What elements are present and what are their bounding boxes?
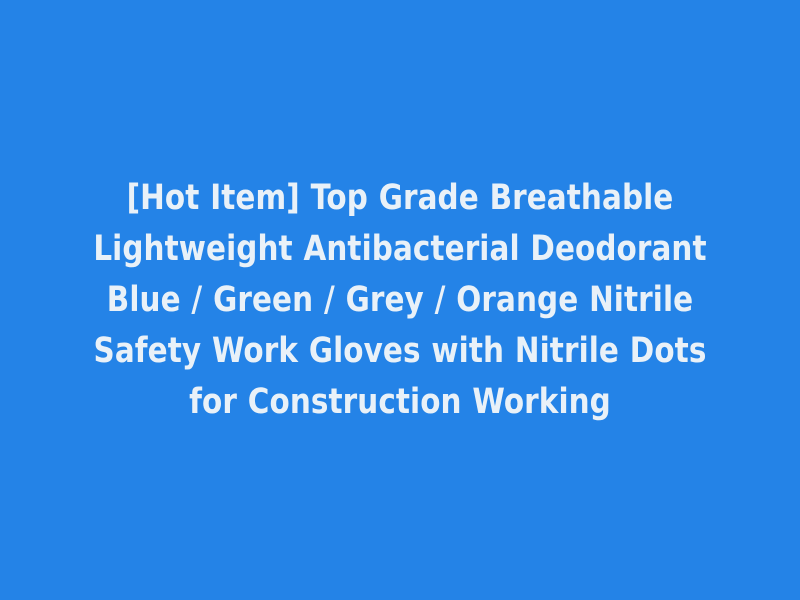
page-title: [Hot Item] Top Grade Breathable Lightwei… <box>77 173 722 428</box>
product-title-card: [Hot Item] Top Grade Breathable Lightwei… <box>0 0 800 600</box>
title-block: [Hot Item] Top Grade Breathable Lightwei… <box>55 173 745 428</box>
